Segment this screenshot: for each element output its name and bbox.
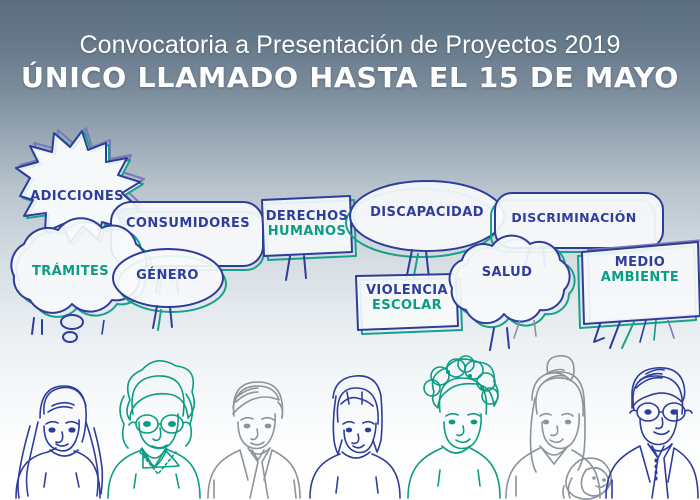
bubble-label-salud[interactable]: SALUD: [452, 266, 562, 281]
bubble-shape-genero: [113, 249, 226, 330]
bubble-label-genero[interactable]: GÉNERO: [115, 269, 220, 284]
bubble-text-violencia: VIOLENCIA: [357, 284, 457, 299]
bubble-text-humanos: HUMANOS: [262, 225, 352, 240]
bubble-label-discapacidad[interactable]: DISCAPACIDAD: [352, 206, 502, 221]
bubble-text-consumidores-line1: CONSUMIDORES: [126, 216, 250, 231]
person-1: [16, 386, 102, 498]
person-4: [310, 376, 400, 498]
bubble-text-ambiente: AMBIENTE: [584, 271, 696, 286]
bubble-text-genero: GÉNERO: [136, 268, 199, 283]
poster-canvas: Convocatoria a Presentación de Proyectos…: [0, 0, 700, 500]
bubble-text-tramites: TRÁMITES: [32, 264, 109, 279]
bubble-text-derechos: DERECHOS: [262, 210, 352, 225]
bubble-text-salud: SALUD: [482, 265, 533, 280]
person-2: [108, 361, 200, 498]
bubble-label-medio-ambiente[interactable]: MEDIO AMBIENTE: [584, 256, 696, 285]
bubble-label-adicciones[interactable]: ADICCIONES: [12, 190, 142, 205]
bubble-text-medio: MEDIO: [584, 256, 696, 271]
bubble-text-discapacidad: DISCAPACIDAD: [370, 205, 484, 220]
bubble-label-violencia-escolar[interactable]: VIOLENCIA ESCOLAR: [357, 284, 457, 313]
bubble-text-discriminacion: DISCRIMINACIÓN: [511, 210, 636, 225]
bubble-text-escolar: ESCOLAR: [357, 299, 457, 314]
person-7: [606, 368, 698, 498]
bubble-tail-strands: [0, 320, 700, 380]
bubble-label-consumidores[interactable]: CONSUMIDORES: [113, 217, 263, 232]
bubble-text-adicciones-line1: ADICCIONES: [30, 189, 124, 204]
bubble-label-discriminacion[interactable]: DISCRIMINACIÓN: [500, 211, 648, 225]
bubble-label-derechos-humanos[interactable]: DERECHOS HUMANOS: [262, 210, 352, 239]
person-3: [208, 382, 300, 498]
